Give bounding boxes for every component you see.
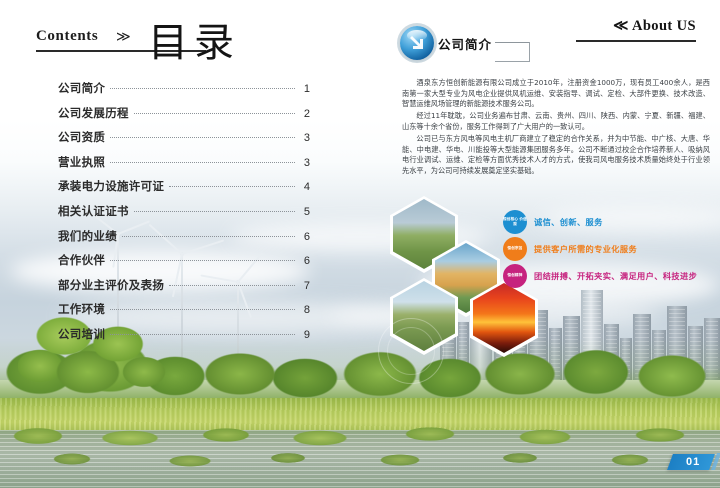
value-row: 恒创宗旨 提供客户所需的专业化服务 (503, 235, 718, 262)
toc-item-page: 3 (300, 132, 310, 144)
toc-item-page: 3 (300, 157, 310, 169)
contents-label: Contents (36, 28, 98, 45)
toc-item-title: 工作环境 (58, 301, 105, 317)
toc-item[interactable]: 部分业主评价及表扬 7 (58, 277, 310, 302)
toc-leader-dots (110, 136, 295, 138)
intro-body: 酒泉东方恒创新能源有限公司成立于2010年，注册资金1000万，现有员工400余… (402, 78, 710, 178)
toc-leader-dots (169, 284, 295, 286)
toc-leader-dots (122, 235, 295, 237)
toc-item-page: 6 (300, 231, 310, 243)
double-chevron-left-icon: ≪ (613, 18, 629, 34)
toc-item-title: 公司资质 (58, 129, 105, 145)
page-title: 目录 (148, 10, 240, 68)
toc-item-title: 合作伙伴 (58, 252, 105, 268)
toc-item-page: 4 (300, 181, 310, 193)
value-badge: 恒创精神 (503, 264, 527, 288)
toc-item-title: 承装电力设施许可证 (58, 178, 164, 194)
toc-item-title: 相关认证证书 (58, 203, 129, 219)
value-text: 提供客户所需的专业化服务 (534, 243, 637, 255)
toc-item-title: 公司培训 (58, 326, 105, 342)
ferris-wheel-outline (378, 318, 444, 384)
intro-paragraph: 酒泉东方恒创新能源有限公司成立于2010年，注册资金1000万，现有员工400余… (402, 78, 710, 110)
page-number-badge: 01 (667, 454, 715, 470)
value-badge: 恒创核心 价值观 (503, 210, 527, 234)
toc-leader-dots (110, 161, 295, 163)
toc-item[interactable]: 我们的业绩 6 (58, 228, 310, 253)
toc-leader-dots (110, 308, 295, 310)
value-row: 恒创核心 价值观 诚信、创新、服务 (503, 208, 718, 235)
toc-item-title: 公司简介 (58, 80, 105, 96)
toc-leader-dots (134, 112, 295, 114)
intro-paragraph: 经过11年耽耽，公司业务遍布甘肃、云南、贵州、四川、陕西、内蒙、宁夏、新疆、福建… (402, 111, 710, 132)
toc-leader-dots (134, 210, 295, 212)
page-number: 01 (686, 456, 700, 468)
section-decor-box (495, 42, 530, 62)
toc-item-page: 6 (300, 255, 310, 267)
value-text: 团结拼搏、开拓夹实、满足用户、科技进步 (534, 270, 697, 282)
table-of-contents: 公司简介 1 公司发展历程 2 公司资质 3 营业执照 3 承装电力设施许可证 … (58, 80, 310, 351)
brochure-page: Contents ≫ 目录 公司简介 1 公司发展历程 2 公司资质 3 营业执… (0, 0, 720, 488)
toc-item[interactable]: 公司培训 9 (58, 326, 310, 351)
about-rule (576, 40, 696, 42)
toc-leader-dots (169, 185, 295, 187)
toc-item[interactable]: 公司发展历程 2 (58, 105, 310, 130)
intro-paragraph: 公司已与东方风电等风电主机厂商建立了稳定的合作关系，并为中节能、中广核、大唐、华… (402, 134, 710, 176)
value-badge: 恒创宗旨 (503, 237, 527, 261)
toc-item-title: 部分业主评价及表扬 (58, 277, 164, 293)
reeds (0, 450, 720, 476)
double-chevron-right-icon: ≫ (116, 28, 128, 45)
toc-item-page: 8 (300, 304, 310, 316)
toc-leader-dots (110, 87, 295, 89)
about-us-heading: ≪ About US (613, 18, 696, 35)
toc-item-page: 7 (300, 280, 310, 292)
core-values-list: 恒创核心 价值观 诚信、创新、服务 恒创宗旨 提供客户所需的专业化服务 恒创精神… (503, 208, 718, 289)
toc-leader-dots (110, 259, 295, 261)
toc-item[interactable]: 合作伙伴 6 (58, 252, 310, 277)
arrow-down-right-icon (400, 26, 434, 60)
section-title: 公司简介 (438, 34, 492, 53)
toc-item-title: 营业执照 (58, 154, 105, 170)
toc-item[interactable]: 营业执照 3 (58, 154, 310, 179)
toc-item-page: 5 (300, 206, 310, 218)
toc-item[interactable]: 公司简介 1 (58, 80, 310, 105)
about-us-label: About US (632, 18, 696, 34)
toc-item-page: 2 (300, 108, 310, 120)
toc-item[interactable]: 承装电力设施许可证 4 (58, 178, 310, 203)
toc-item[interactable]: 相关认证证书 5 (58, 203, 310, 228)
value-badge-label: 恒创宗旨 (507, 246, 522, 250)
contents-header: Contents ≫ 目录 (36, 14, 336, 74)
toc-leader-dots (110, 333, 295, 335)
value-badge-label: 恒创核心 价值观 (503, 217, 527, 226)
toc-item-title: 公司发展历程 (58, 105, 129, 121)
toc-item[interactable]: 工作环境 8 (58, 301, 310, 326)
toc-item-page: 9 (300, 329, 310, 341)
toc-item[interactable]: 公司资质 3 (58, 129, 310, 154)
toc-item-title: 我们的业绩 (58, 228, 117, 244)
value-badge-label: 恒创精神 (507, 273, 522, 277)
section-header: 公司简介 (400, 26, 540, 62)
value-text: 诚信、创新、服务 (534, 216, 603, 228)
value-row: 恒创精神 团结拼搏、开拓夹实、满足用户、科技进步 (503, 262, 718, 289)
toc-item-page: 1 (300, 83, 310, 95)
